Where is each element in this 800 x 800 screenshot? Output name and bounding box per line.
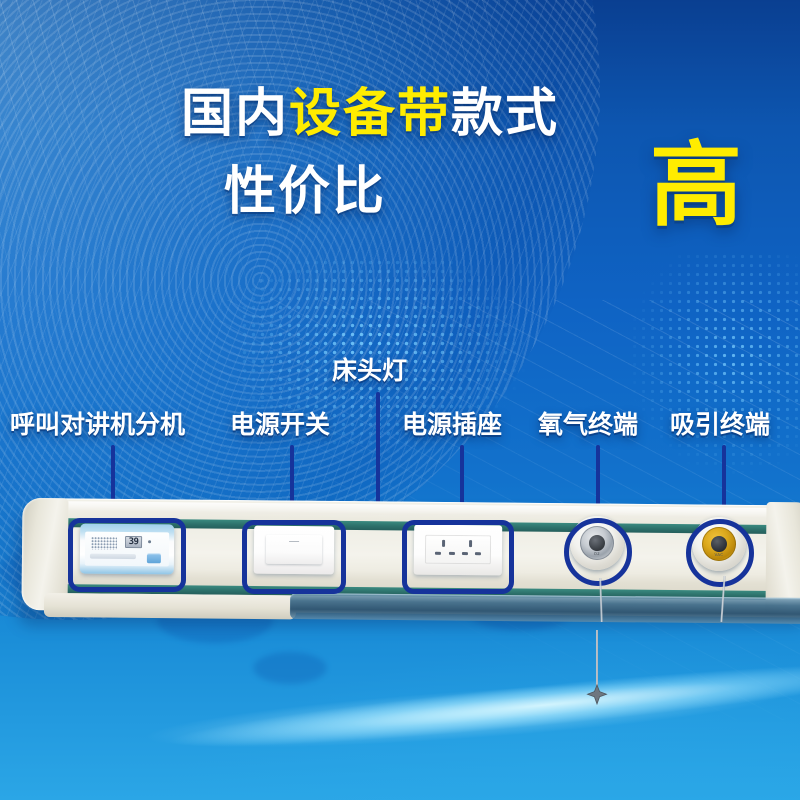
bed-lamp-pull-cord: [596, 630, 598, 692]
panel-lower-face-left: [44, 593, 296, 619]
headline-l2-seg1: 性价比: [224, 162, 386, 222]
callout-label-oxygen: 氧气终端: [538, 412, 638, 437]
callout-label-intercom: 呼叫对讲机分机: [10, 412, 185, 437]
highlight-box-power-socket: [402, 520, 514, 594]
pull-cord-handle[interactable]: [586, 684, 608, 706]
highlight-circle-suction: [686, 519, 754, 587]
callout-label-power-socket: 电源插座: [402, 412, 502, 437]
headline-l1-seg1: 国内: [181, 84, 289, 144]
cross-handle-icon: [586, 684, 608, 706]
product-promo-image: 国内设备带款式 性价比 高 呼叫对讲机分机 电源开关 床头灯 电源插座 氧气终端…: [0, 0, 800, 800]
headline-l1-seg3: 款式: [451, 84, 559, 144]
highlight-box-power-switch: [242, 520, 346, 594]
callout-label-bed-lamp: 床头灯: [332, 358, 407, 383]
highlight-box-intercom: [68, 518, 186, 592]
callout-label-suction: 吸引终端: [670, 412, 770, 437]
headline-l1-seg2: 设备带: [289, 84, 451, 144]
callout-label-power-switch: 电源开关: [230, 412, 330, 437]
halftone-dots-right: [630, 252, 800, 482]
headline-emphasis-gao: 高: [650, 140, 742, 232]
highlight-circle-oxygen: [564, 518, 632, 586]
